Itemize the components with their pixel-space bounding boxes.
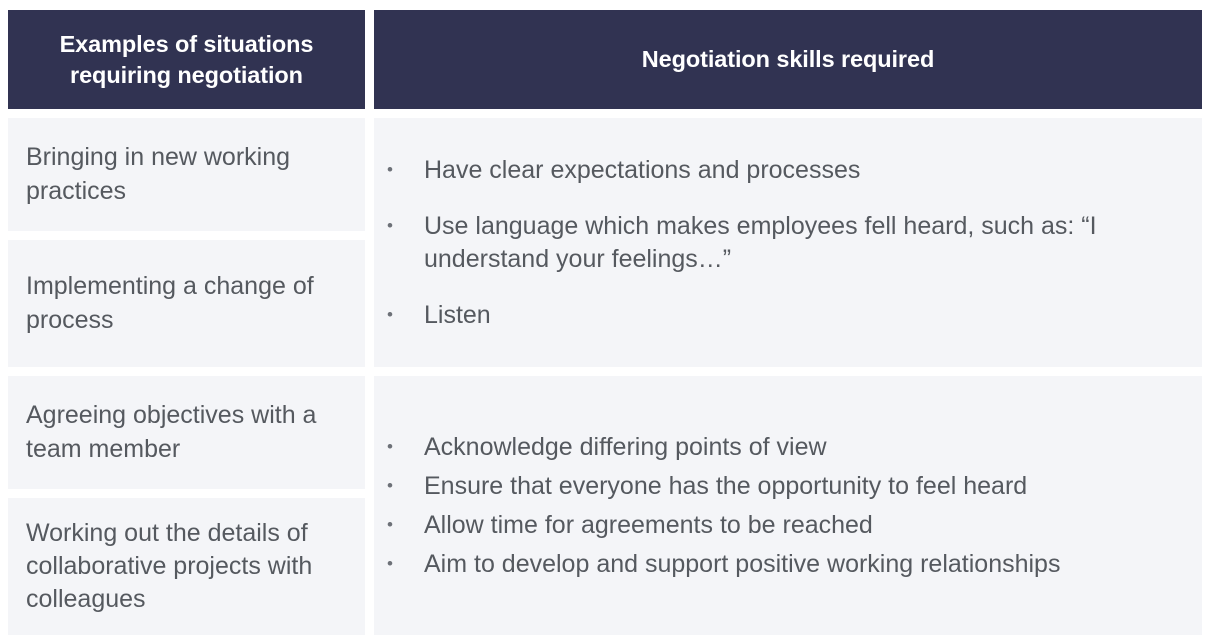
list-item: Listen <box>374 299 1202 332</box>
situation-cell: Agreeing objectives with a team member <box>8 376 365 489</box>
table-row-group-1: Bringing in new working practices Implem… <box>8 118 1202 367</box>
skills-list-group-1: Have clear expectations and processes Us… <box>374 154 1202 332</box>
group-divider <box>8 367 1202 376</box>
situation-cell: Working out the details of collaborative… <box>8 498 365 635</box>
list-item: Ensure that everyone has the opportunity… <box>374 470 1202 503</box>
negotiation-skills-table: Examples of situations requiring negotia… <box>8 10 1202 635</box>
column-header-skills: Negotiation skills required <box>374 10 1202 109</box>
list-item: Aim to develop and support positive work… <box>374 548 1202 581</box>
list-item: Have clear expectations and processes <box>374 154 1202 187</box>
header-body-gap <box>8 109 1202 118</box>
column-header-situations: Examples of situations requiring negotia… <box>8 10 365 109</box>
list-item: Acknowledge differing points of view <box>374 431 1202 464</box>
situation-cell: Implementing a change of process <box>8 240 365 367</box>
situations-column-group-2: Agreeing objectives with a team member W… <box>8 376 365 635</box>
list-item: Allow time for agreements to be reached <box>374 509 1202 542</box>
table-header-row: Examples of situations requiring negotia… <box>8 10 1202 109</box>
column-gap <box>365 376 374 635</box>
situations-column-group-1: Bringing in new working practices Implem… <box>8 118 365 367</box>
table-row-group-2: Agreeing objectives with a team member W… <box>8 376 1202 635</box>
situation-cell: Bringing in new working practices <box>8 118 365 231</box>
skills-column-group-1: Have clear expectations and processes Us… <box>374 118 1202 367</box>
cell-divider <box>8 231 365 240</box>
list-item: Use language which makes employees fell … <box>374 210 1202 276</box>
skills-column-group-2: Acknowledge differing points of view Ens… <box>374 376 1202 635</box>
cell-divider <box>8 489 365 498</box>
header-column-gap <box>365 10 374 109</box>
skills-list-group-2: Acknowledge differing points of view Ens… <box>374 431 1202 581</box>
column-gap <box>365 118 374 367</box>
